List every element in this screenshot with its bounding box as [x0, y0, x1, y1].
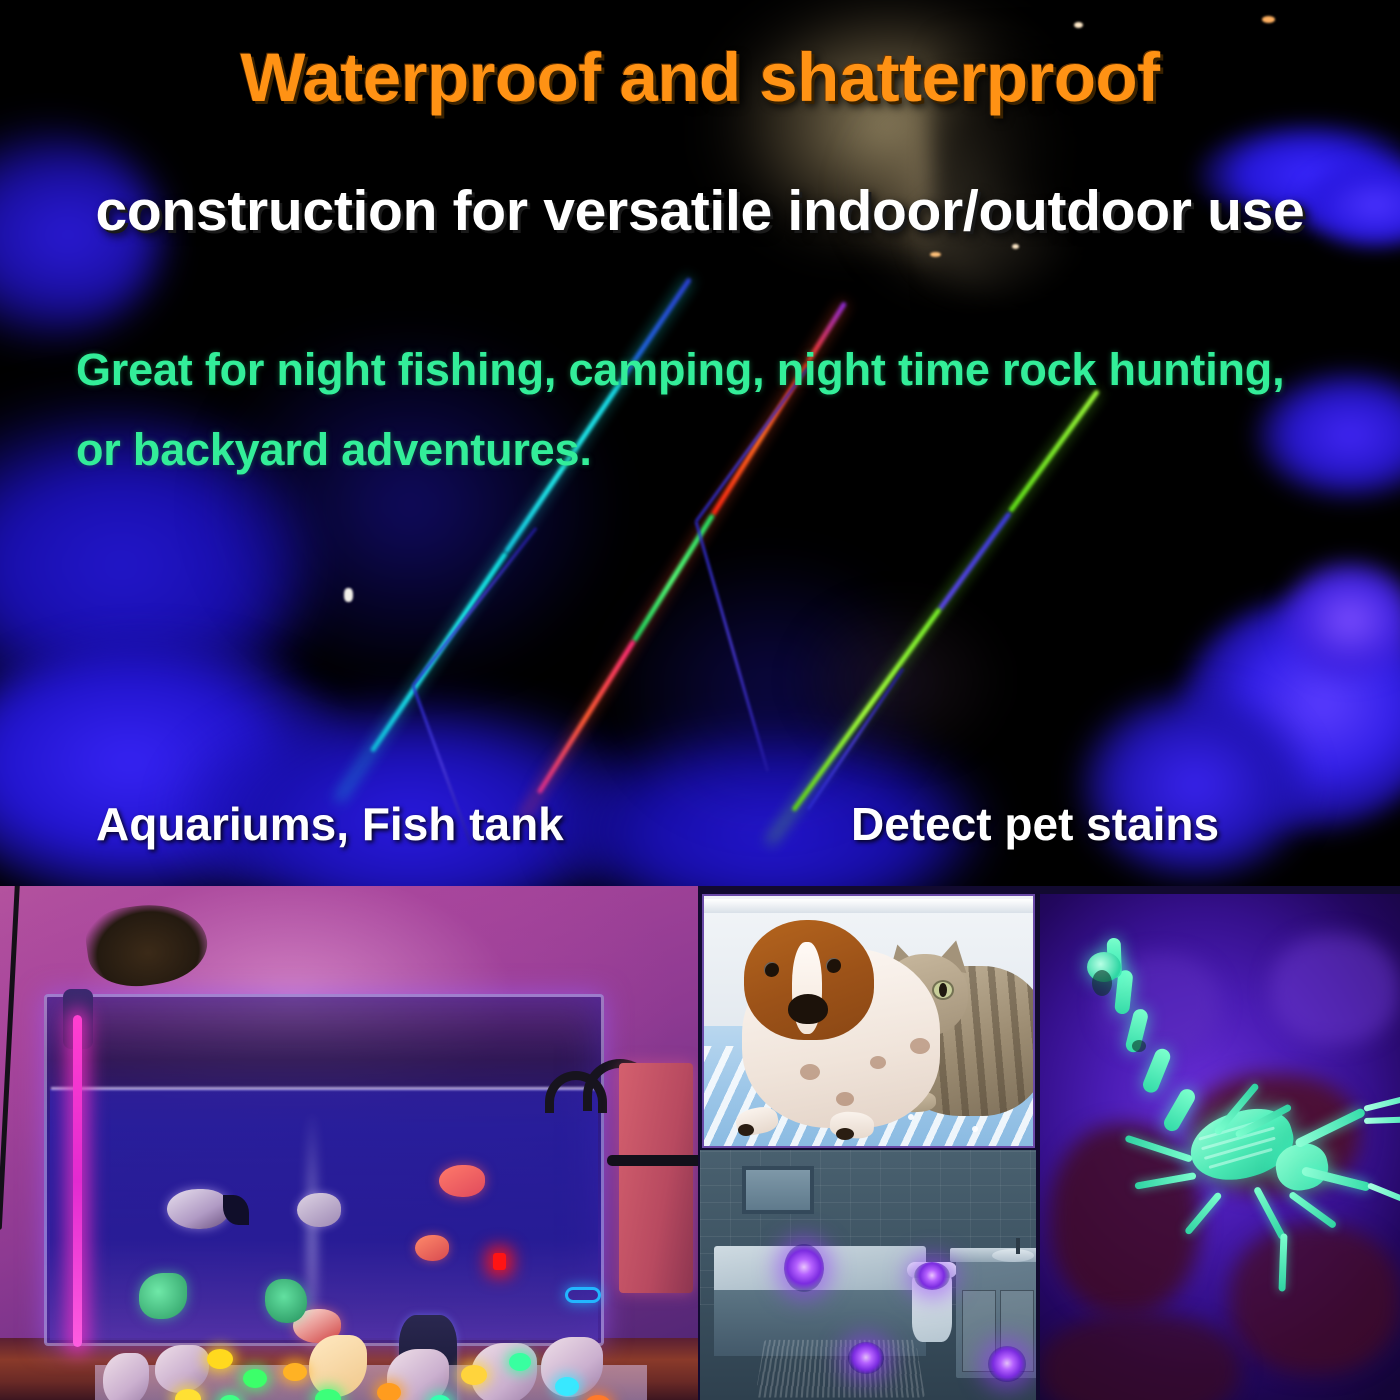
caption-pet-stains: Detect pet stains: [851, 797, 1219, 851]
water-line: [51, 1087, 597, 1090]
fish: [297, 1193, 341, 1227]
dog-claw: [738, 1124, 754, 1136]
background-rock: [1230, 1224, 1400, 1374]
rod-green-joint: [937, 511, 1012, 611]
spark-speck: [1012, 244, 1019, 249]
sink-basin: [992, 1249, 1034, 1262]
photo-strip: [0, 886, 1400, 1400]
glow-pebble: [283, 1363, 307, 1381]
uv-glow-foliage: [1080, 690, 1310, 880]
rod-stand: [412, 527, 537, 686]
page-title: Waterproof and shatterproof: [0, 38, 1400, 117]
uv-stain-spot: [848, 1342, 884, 1374]
faucet: [1016, 1238, 1020, 1254]
glow-pebble: [555, 1377, 579, 1396]
spark-speck: [1262, 16, 1275, 23]
glow-pebble: [207, 1349, 233, 1369]
aquatic-plant: [139, 1273, 187, 1319]
uv-led-strip: [73, 1015, 82, 1347]
scorpion-claw: [1367, 1182, 1400, 1206]
uv-glow-haze: [620, 560, 920, 820]
uv-glow-foliage: [1280, 560, 1400, 680]
dog-eye: [826, 958, 841, 973]
spark-speck: [930, 252, 941, 257]
glow-pebble: [377, 1383, 401, 1400]
blanket-dot: [972, 1126, 978, 1132]
uv-stain-spot: [988, 1346, 1026, 1382]
hero-uv-night-scene: Waterproof and shatterproof construction…: [0, 0, 1400, 886]
dog-claw: [836, 1128, 854, 1140]
rod-stand: [695, 521, 770, 772]
bathroom-window: [742, 1166, 814, 1214]
body-segment-line: [1209, 1148, 1273, 1169]
benefit-line-2: or backyard adventures.: [76, 424, 592, 476]
spark-speck: [1074, 22, 1083, 28]
dog-nose: [788, 994, 828, 1024]
uv-stain-spot: [784, 1244, 824, 1292]
background-rock: [1270, 934, 1400, 1044]
filter-mount-bar: [607, 1155, 698, 1166]
scorpion-photo: [1040, 894, 1400, 1400]
rod-stand: [807, 668, 905, 811]
goldfish: [415, 1235, 449, 1261]
uv-glow-haze: [800, 600, 1000, 760]
blue-indicator-light: [565, 1287, 601, 1303]
benefit-line-1: Great for night fishing, camping, night …: [76, 344, 1284, 396]
rod-green-butt: [791, 607, 942, 812]
fish: [167, 1189, 229, 1229]
uv-stain-spot: [914, 1262, 950, 1290]
uv-glow-foliage: [1180, 600, 1400, 830]
bath-rug: [755, 1340, 925, 1398]
bathroom-uv-stains-photo: [700, 1150, 1036, 1400]
dog-spot: [870, 1056, 886, 1069]
glow-pebble: [509, 1353, 531, 1371]
rod-red-butt: [536, 639, 636, 794]
rod-green-tip: [1008, 389, 1100, 513]
scorpion-claw: [1363, 1094, 1400, 1112]
scorpion-dark-marking: [1132, 1040, 1146, 1052]
glow-pebble: [243, 1369, 267, 1388]
dog-eye: [764, 962, 779, 977]
heater-indicator-light: [493, 1253, 506, 1270]
background-rock: [1040, 1314, 1240, 1400]
rod-green-mid: [631, 513, 715, 643]
glow-pebble: [461, 1365, 487, 1385]
window-sill: [704, 899, 1033, 913]
fish-tank: [44, 994, 604, 1346]
scorpion-tail-segment: [1141, 1046, 1173, 1095]
aquarium-photo: [0, 886, 698, 1400]
dog-spot: [910, 1038, 930, 1054]
dog-spot: [836, 1092, 854, 1106]
scorpion-claw: [1364, 1116, 1400, 1124]
filter-box: [619, 1063, 693, 1293]
uv-glow-foliage: [180, 700, 640, 886]
dog-cat-photo: [702, 894, 1035, 1148]
caption-aquarium: Aquariums, Fish tank: [96, 797, 564, 851]
aquatic-plant: [265, 1279, 307, 1323]
goldfish: [439, 1165, 485, 1197]
product-feature-page: Waterproof and shatterproof construction…: [0, 0, 1400, 1400]
dog-spot: [800, 1064, 820, 1080]
scorpion-dark-marking: [1092, 970, 1112, 996]
blanket-dot: [908, 1114, 914, 1120]
spark-speck: [344, 588, 353, 602]
seashell: [103, 1353, 149, 1400]
page-subtitle: construction for versatile indoor/outdoo…: [0, 178, 1400, 244]
cat-pupil: [939, 983, 947, 997]
